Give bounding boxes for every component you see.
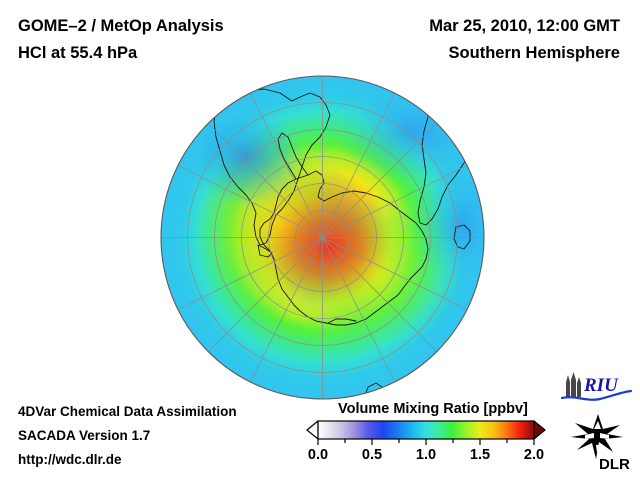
hcl-core-maximum [266,195,390,299]
orthographic-projection-svg [160,75,485,400]
footer-version-label: SACADA Version 1.7 [18,428,150,443]
colorbar-tick-label-2: 1.0 [416,447,436,463]
colorbar-tick-label-0: 0.0 [308,447,328,463]
dlr-wordmark: DLR [599,456,630,472]
colorbar-cap-low [307,421,318,439]
species-level-label: HCl at 55.4 hPa [18,44,137,63]
colorbar [306,419,546,445]
colorbar-tick-label-4: 2.0 [524,447,544,463]
graticule-layer [161,76,484,399]
colorbar-tick-labels: 0.0 0.5 1.0 1.5 2.0 [306,447,546,467]
meridians [161,76,484,399]
colorbar-tick-label-3: 1.5 [470,447,490,463]
instrument-title: GOME–2 / MetOp Analysis [18,17,224,36]
dlr-logo-svg: DLR [563,412,633,472]
colorbar-gradient [318,421,534,439]
footer-method-label: 4DVar Chemical Data Assimilation [18,404,237,419]
riu-wordmark: RIU [583,375,619,396]
globe-map [160,75,485,400]
colorbar-ticks [318,439,534,445]
colorbar-title: Volume Mixing Ratio [ppbv] [338,401,528,417]
riu-logo: RIU [559,371,633,405]
riu-tower-icon [566,372,581,397]
dlr-logo: DLR [563,412,633,472]
colorbar-cap-high [534,421,545,439]
footer-url: http://wdc.dlr.de [18,452,122,467]
region-label: Southern Hemisphere [449,44,620,63]
hcl-cool-lobe-northwest [184,105,308,209]
coastline-australia [454,337,485,369]
colorbar-tick-label-1: 0.5 [362,447,382,463]
map-field-layer [161,76,485,399]
riu-logo-svg: RIU [559,371,633,405]
colorbar-svg [306,419,546,445]
datetime-label: Mar 25, 2010, 12:00 GMT [429,17,620,36]
